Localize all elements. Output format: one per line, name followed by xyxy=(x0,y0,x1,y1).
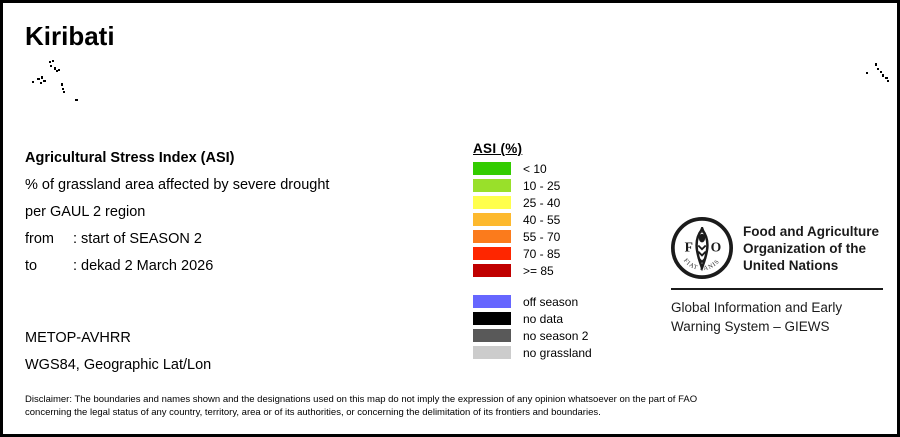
legend-class-row: 40 - 55 xyxy=(473,211,592,228)
description-heading: Agricultural Stress Index (ASI) xyxy=(25,145,445,172)
legend-status-label: no season 2 xyxy=(523,329,588,343)
description-subtitle: % of grassland area affected by severe d… xyxy=(25,172,445,199)
legend-class-label: 10 - 25 xyxy=(523,179,560,193)
legend-status-row: no season 2 xyxy=(473,327,592,344)
island-marker xyxy=(62,88,64,90)
island-marker xyxy=(52,60,54,62)
island-marker xyxy=(40,82,42,84)
svg-text:O: O xyxy=(711,240,722,255)
island-marker xyxy=(49,61,51,63)
fao-header: F A O FIAT PANIS Food and Agriculture Or… xyxy=(671,217,883,279)
legend-status-row: off season xyxy=(473,293,592,310)
legend-class-label: 70 - 85 xyxy=(523,247,560,261)
island-marker xyxy=(875,63,877,66)
legend-class-swatch xyxy=(473,196,511,209)
legend-status-row: no grassland xyxy=(473,344,592,361)
island-marker xyxy=(56,70,58,72)
island-marker xyxy=(866,72,868,74)
period-to-value: : dekad 2 March 2026 xyxy=(73,253,213,280)
island-marker xyxy=(58,69,60,71)
description-aggregation: per GAUL 2 region xyxy=(25,199,445,226)
giews-line-2: Warning System – GIEWS xyxy=(671,317,883,336)
legend-status-label: off season xyxy=(523,295,578,309)
period-from-label: from xyxy=(25,226,73,253)
island-marker xyxy=(75,99,78,101)
island-marker xyxy=(37,78,40,80)
svg-text:F: F xyxy=(685,240,693,255)
legend-status-swatch xyxy=(473,295,511,308)
fao-logo-icon: F A O FIAT PANIS xyxy=(671,217,733,279)
island-marker xyxy=(50,65,52,67)
legend-class-swatch xyxy=(473,247,511,260)
legend-class-swatch xyxy=(473,213,511,226)
legend-class-label: 40 - 55 xyxy=(523,213,560,227)
period-from-row: from: start of SEASON 2 xyxy=(25,226,445,253)
legend-class-swatch xyxy=(473,230,511,243)
source-projection: WGS84, Geographic Lat/Lon xyxy=(25,352,211,379)
island-marker xyxy=(61,83,63,86)
island-marker xyxy=(885,77,888,79)
island-marker xyxy=(882,74,884,77)
period-to-row: to: dekad 2 March 2026 xyxy=(25,253,445,280)
island-marker xyxy=(43,80,46,82)
fao-divider xyxy=(671,288,883,290)
period-to-label: to xyxy=(25,253,73,280)
legend-class-row: 55 - 70 xyxy=(473,228,592,245)
legend-class-row: < 10 xyxy=(473,160,592,177)
legend-status-label: no data xyxy=(523,312,563,326)
legend-class-row: 70 - 85 xyxy=(473,245,592,262)
legend-class-label: 55 - 70 xyxy=(523,230,560,244)
giews-label: Global Information and Early Warning Sys… xyxy=(671,298,883,336)
island-marker xyxy=(63,91,65,93)
legend-class-label: >= 85 xyxy=(523,264,554,278)
island-marker xyxy=(880,71,882,73)
legend-class-row: 10 - 25 xyxy=(473,177,592,194)
legend-title: ASI (%) xyxy=(473,141,592,156)
legend-class-row: >= 85 xyxy=(473,262,592,279)
fao-branding-block: F A O FIAT PANIS Food and Agriculture Or… xyxy=(671,217,883,336)
map-legend: ASI (%) < 1010 - 2525 - 4040 - 5555 - 70… xyxy=(473,141,592,361)
disclaimer-text: Disclaimer: The boundaries and names sho… xyxy=(25,393,870,419)
legend-status-row: no data xyxy=(473,310,592,327)
legend-status-label: no grassland xyxy=(523,346,592,360)
legend-class-swatch xyxy=(473,162,511,175)
legend-class-list: < 1010 - 2525 - 4040 - 5555 - 7070 - 85>… xyxy=(473,160,592,279)
legend-class-row: 25 - 40 xyxy=(473,194,592,211)
period-from-value: : start of SEASON 2 xyxy=(73,226,202,253)
fao-name-line-3: United Nations xyxy=(743,257,879,274)
island-marker xyxy=(887,80,889,82)
giews-line-1: Global Information and Early xyxy=(671,298,883,317)
page-title: Kiribati xyxy=(25,21,115,52)
island-marker xyxy=(41,76,43,79)
legend-class-label: < 10 xyxy=(523,162,547,176)
legend-class-swatch xyxy=(473,264,511,277)
legend-class-label: 25 - 40 xyxy=(523,196,560,210)
svg-text:A: A xyxy=(698,225,707,239)
map-page: Kiribati Agricultural Stress Index (ASI)… xyxy=(0,0,900,437)
legend-status-swatch xyxy=(473,329,511,342)
fao-name-line-2: Organization of the xyxy=(743,240,879,257)
island-marker xyxy=(877,68,879,70)
legend-status-swatch xyxy=(473,312,511,325)
legend-spacer xyxy=(473,279,592,293)
disclaimer-line-1: Disclaimer: The boundaries and names sho… xyxy=(25,393,870,406)
island-marker xyxy=(54,67,56,70)
legend-class-swatch xyxy=(473,179,511,192)
source-block: METOP-AVHRR WGS84, Geographic Lat/Lon xyxy=(25,325,211,379)
legend-status-list: off seasonno datano season 2no grassland xyxy=(473,293,592,361)
source-sensor: METOP-AVHRR xyxy=(25,325,211,352)
map-description-block: Agricultural Stress Index (ASI) % of gra… xyxy=(25,145,445,280)
legend-status-swatch xyxy=(473,346,511,359)
disclaimer-line-2: concerning the legal status of any count… xyxy=(25,406,870,419)
island-marker xyxy=(32,81,34,83)
fao-organization-name: Food and Agriculture Organization of the… xyxy=(743,223,879,274)
fao-name-line-1: Food and Agriculture xyxy=(743,223,879,240)
